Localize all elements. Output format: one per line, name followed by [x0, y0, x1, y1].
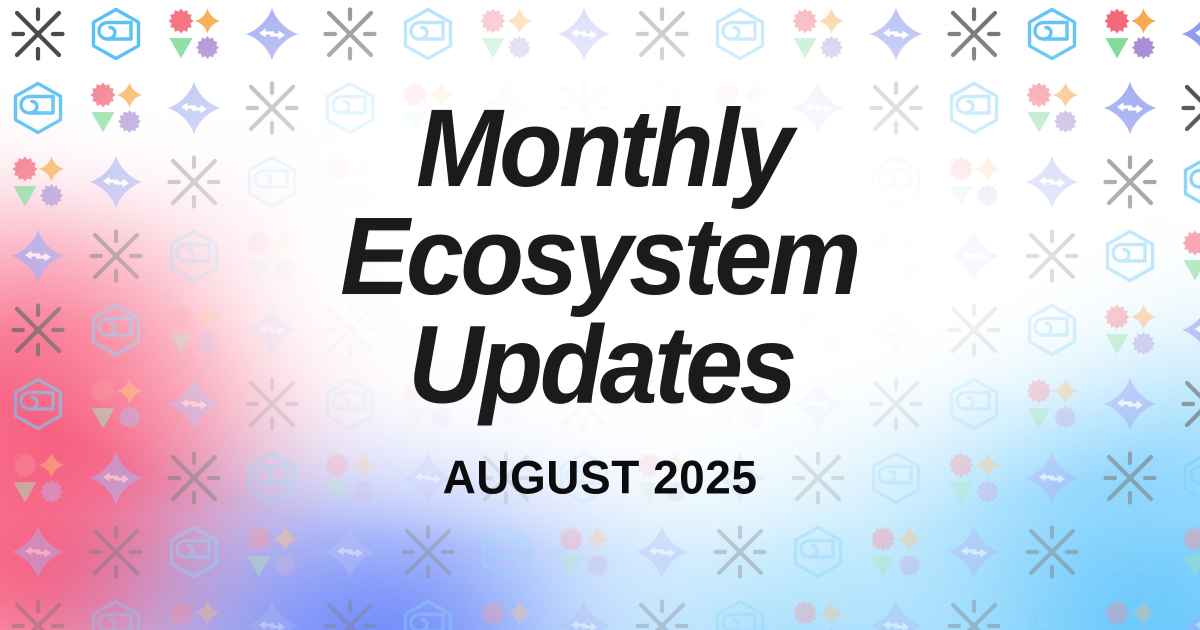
page-title: Monthly Ecosystem Updates: [342, 96, 858, 420]
headline-line-2: Ecosystem: [340, 204, 858, 312]
title-block: Monthly Ecosystem Updates AUGUST 2025: [0, 0, 1200, 630]
headline-line-3: Updates: [344, 312, 858, 420]
banner-canvas: Monthly Ecosystem Updates AUGUST 2025: [0, 0, 1200, 630]
headline-line-1: Monthly: [348, 96, 858, 204]
issue-date: AUGUST 2025: [443, 449, 758, 504]
